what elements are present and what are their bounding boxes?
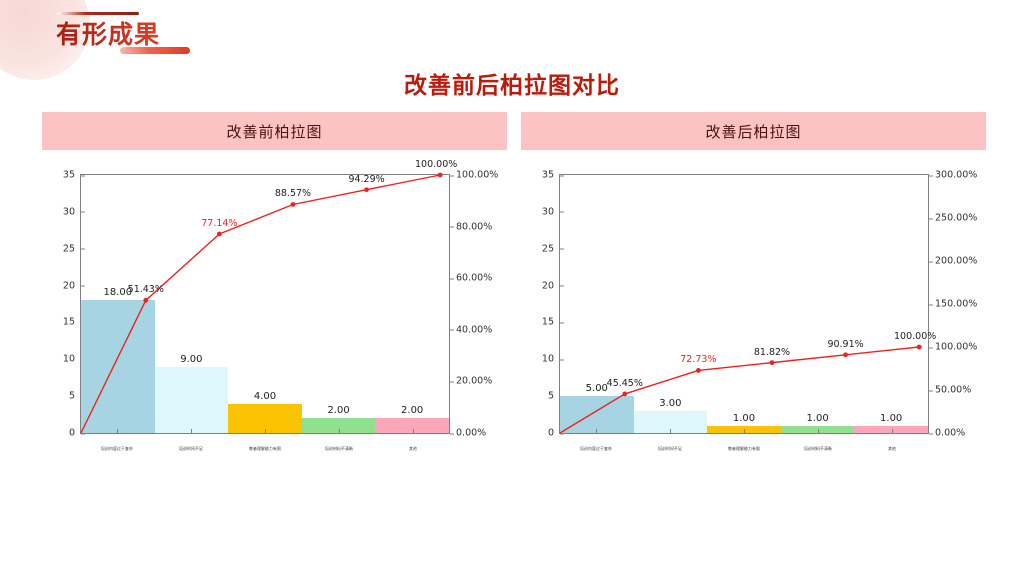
before-cumulative-value-label: 88.57% (275, 188, 311, 199)
before-y-tick-label: 30 (63, 206, 81, 217)
before-x-tick: 培训时间不足 (154, 435, 228, 455)
after-y2-tick-label: 0.00% (928, 428, 965, 439)
after-y-tick-label: 30 (542, 206, 560, 217)
after-x-tick-label: 教者理解能力有限 (728, 446, 760, 451)
panel-before-heading: 改善前柏拉图 (42, 112, 507, 150)
after-x-axis-labels: 培训内容过于复杂培训时间不足教者理解能力有限培训材料不清晰其他 (559, 435, 929, 455)
before-cumulative-value-label: 77.14% (201, 218, 237, 229)
after-plot-area: 051015202530350.00%50.00%100.00%150.00%2… (559, 174, 929, 434)
before-x-tick-label: 培训时间不足 (179, 446, 203, 451)
after-y-tick-label: 25 (542, 243, 560, 254)
before-cumulative-value-label: 51.43% (128, 284, 164, 295)
after-x-tick: 教者理解能力有限 (707, 435, 781, 455)
after-cumulative-value-label: 72.73% (680, 354, 716, 365)
after-x-tick-mark (596, 429, 597, 434)
after-y2-tick-label: 250.00% (928, 213, 977, 224)
after-x-tick-label: 其他 (888, 446, 896, 451)
page-title: 改善前后柏拉图对比 (0, 66, 1024, 100)
pareto-chart-after: 051015202530350.00%50.00%100.00%150.00%2… (521, 162, 986, 467)
before-x-tick: 培训内容过于复杂 (80, 435, 154, 455)
before-x-tick-mark (339, 429, 340, 434)
after-cumulative-line (560, 175, 928, 433)
before-y-tick-label: 5 (69, 391, 81, 402)
after-cumulative-value-label: 90.91% (827, 339, 863, 350)
before-x-tick-label: 培训内容过于复杂 (101, 446, 133, 451)
after-y-tick-label: 20 (542, 280, 560, 291)
before-x-tick: 教者理解能力有限 (228, 435, 302, 455)
panel-after: 改善后柏拉图 051015202530350.00%50.00%100.00%1… (521, 112, 986, 467)
before-y2-tick-label: 40.00% (449, 324, 492, 335)
after-y-tick-label: 15 (542, 317, 560, 328)
before-y-tick-label: 10 (63, 354, 81, 365)
after-y2-tick-label: 150.00% (928, 299, 977, 310)
after-y2-tick-label: 100.00% (928, 342, 977, 353)
after-y2-tick-label: 50.00% (928, 385, 971, 396)
after-y2-tick-label: 300.00% (928, 170, 977, 181)
before-cumulative-value-label: 100.00% (415, 159, 457, 170)
panel-after-heading: 改善后柏拉图 (521, 112, 986, 150)
before-y-tick-label: 20 (63, 280, 81, 291)
before-x-tick: 其他 (376, 435, 450, 455)
before-plot-area: 051015202530350.00%20.00%40.00%60.00%80.… (80, 174, 450, 434)
header-tag-title: 有形成果 (56, 15, 160, 51)
before-y2-tick-label: 0.00% (449, 428, 486, 439)
before-y2-tick-label: 80.00% (449, 221, 492, 232)
before-y2-tick-label: 20.00% (449, 376, 492, 387)
after-x-tick-label: 培训内容过于复杂 (580, 446, 612, 451)
before-y-tick-label: 25 (63, 243, 81, 254)
before-y-tick-label: 15 (63, 317, 81, 328)
after-y-tick-label: 35 (542, 170, 560, 181)
after-y-tick-label: 10 (542, 354, 560, 365)
after-x-tick-mark (744, 429, 745, 434)
after-y2-tick-label: 200.00% (928, 256, 977, 267)
after-y-tick-label: 5 (548, 391, 560, 402)
pareto-chart-before: 051015202530350.00%20.00%40.00%60.00%80.… (42, 162, 507, 467)
after-x-tick: 培训时间不足 (633, 435, 707, 455)
before-x-tick-mark (413, 429, 414, 434)
after-x-tick-mark (892, 429, 893, 434)
before-cumulative-value-label: 94.29% (348, 174, 384, 185)
before-y-tick-label: 35 (63, 170, 81, 181)
after-x-tick-label: 培训时间不足 (658, 446, 682, 451)
before-x-tick: 培训材料不清晰 (302, 435, 376, 455)
after-cumulative-value-label: 81.82% (754, 347, 790, 358)
before-x-tick-mark (191, 429, 192, 434)
after-cumulative-value-label: 45.45% (607, 378, 643, 389)
after-x-tick: 培训内容过于复杂 (559, 435, 633, 455)
after-x-tick-label: 培训材料不清晰 (804, 446, 832, 451)
before-x-tick-label: 培训材料不清晰 (325, 446, 353, 451)
after-x-tick: 培训材料不清晰 (781, 435, 855, 455)
after-cumulative-value-label: 100.00% (894, 331, 936, 342)
before-x-axis-labels: 培训内容过于复杂培训时间不足教者理解能力有限培训材料不清晰其他 (80, 435, 450, 455)
before-x-tick-mark (117, 429, 118, 434)
panel-before: 改善前柏拉图 051015202530350.00%20.00%40.00%60… (42, 112, 507, 467)
before-x-tick-label: 其他 (409, 446, 417, 451)
before-y2-tick-label: 100.00% (449, 170, 498, 181)
before-x-tick-label: 教者理解能力有限 (249, 446, 281, 451)
after-x-tick-mark (818, 429, 819, 434)
before-x-tick-mark (265, 429, 266, 434)
before-y2-tick-label: 60.00% (449, 273, 492, 284)
before-cumulative-line (81, 175, 449, 433)
after-x-tick: 其他 (855, 435, 929, 455)
after-x-tick-mark (670, 429, 671, 434)
